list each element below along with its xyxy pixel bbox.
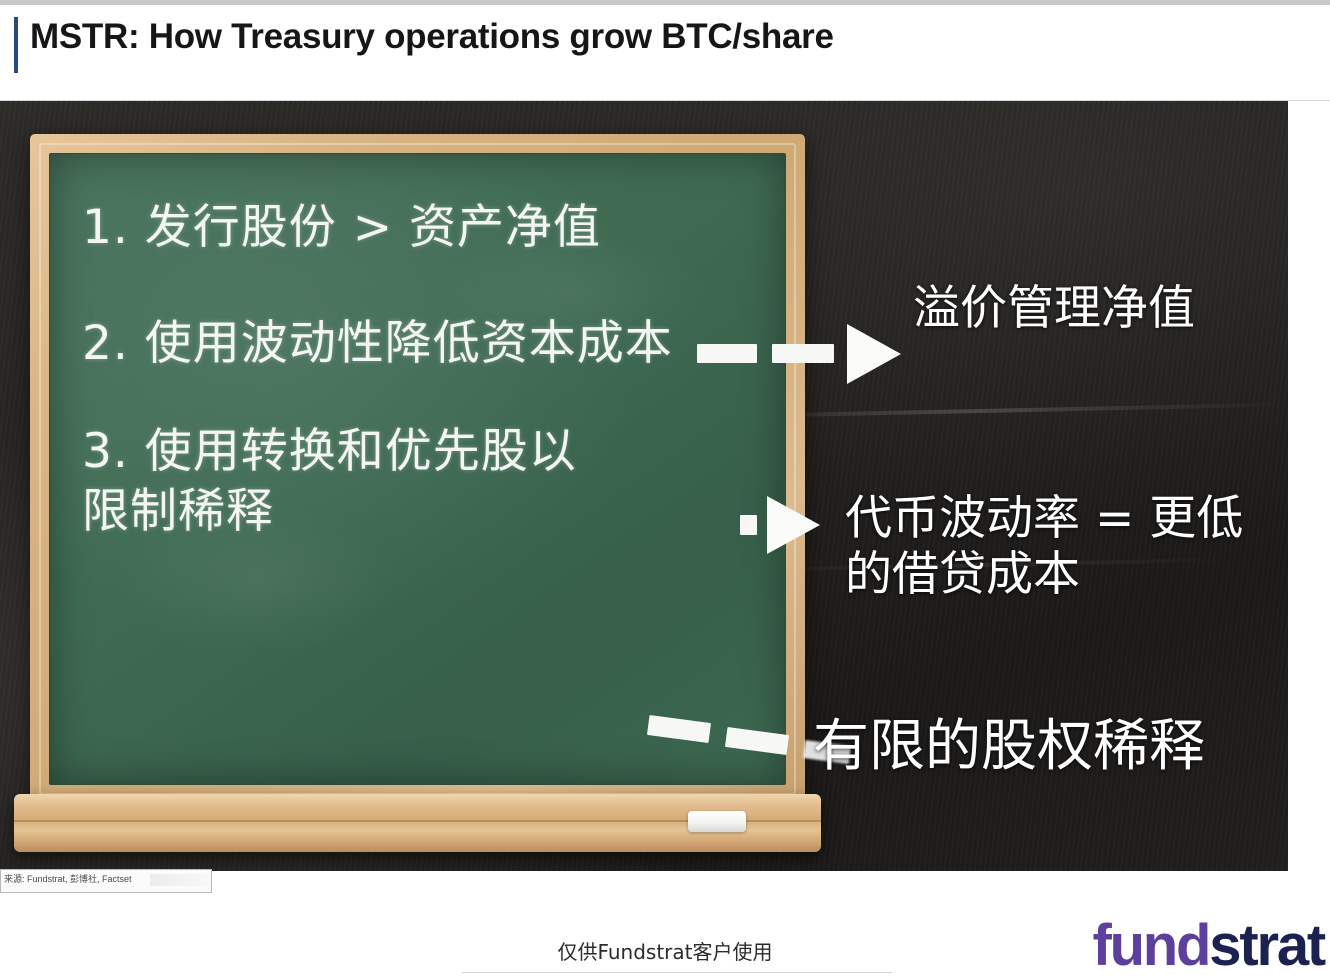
title-band: MSTR: How Treasury operations grow BTC/s…: [0, 5, 1330, 101]
title-accent-bar: [14, 17, 18, 73]
chalkboard-line-2: 2. 使用波动性降低资本成本: [82, 314, 755, 374]
chalkboard-frame: 1. 发行股份 > 资产净值 2. 使用波动性降低资本成本 3. 使用转换和优先…: [30, 134, 805, 804]
source-ghost-artifact: [150, 874, 210, 886]
annotation-label-2: 代币波动率 = 更低的借贷成本: [845, 491, 1275, 604]
chalkboard-line-1: 1. 发行股份 > 资产净值: [82, 198, 755, 258]
dark-photo-panel: 1. 发行股份 > 资产净值 2. 使用波动性降低资本成本 3. 使用转换和优先…: [0, 101, 1288, 871]
chalkboard-line-3: 3. 使用转换和优先股以限制稀释: [82, 422, 612, 542]
source-text: 来源: Fundstrat, 彭博社, Factset: [4, 872, 132, 885]
annotation-label-1: 溢价管理净值: [913, 281, 1243, 337]
arrow-dash: [697, 344, 757, 363]
fundstrat-logo: fundstrat: [1092, 917, 1324, 975]
chalkboard-text-block: 1. 发行股份 > 资产净值 2. 使用波动性降低资本成本 3. 使用转换和优先…: [82, 198, 755, 581]
footer-divider: [462, 972, 892, 973]
chalk-piece: [688, 811, 746, 832]
logo-text-fund: fund: [1092, 913, 1209, 978]
chalk-tray: [14, 794, 821, 852]
chalkboard-surface: 1. 发行股份 > 资产净值 2. 使用波动性降低资本成本 3. 使用转换和优先…: [49, 153, 786, 785]
arrow-dash: [772, 344, 834, 363]
arrow-head-icon: [767, 496, 820, 554]
arrow-head-icon: [847, 324, 901, 384]
page-title: MSTR: How Treasury operations grow BTC/s…: [30, 17, 834, 57]
slide-root: MSTR: How Treasury operations grow BTC/s…: [0, 0, 1330, 980]
annotation-label-3: 有限的股权稀释: [813, 713, 1288, 780]
logo-text-strat: strat: [1209, 913, 1324, 978]
arrow-dash: [740, 515, 757, 535]
